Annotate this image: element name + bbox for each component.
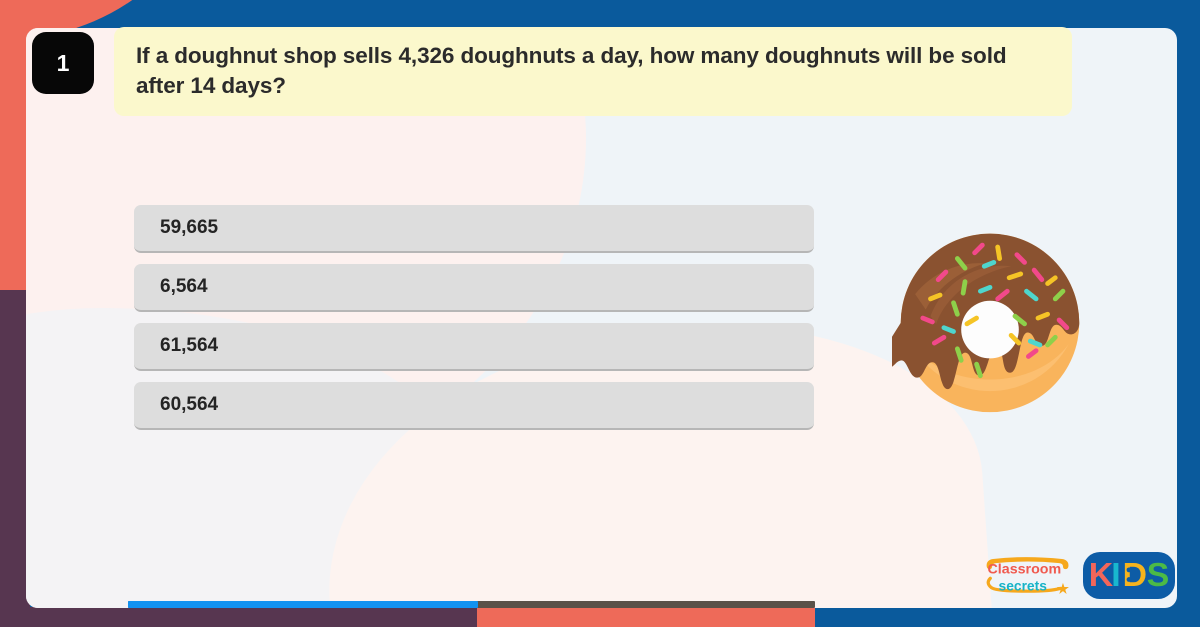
purple-bottom-stripe	[0, 607, 477, 627]
svg-text:S: S	[1147, 557, 1170, 594]
answer-option-2[interactable]: 6,564	[134, 264, 814, 312]
question-number-badge: 1	[32, 32, 94, 94]
question-text: If a doughnut shop sells 4,326 doughnuts…	[136, 41, 1050, 100]
progress-bar-fill	[128, 601, 478, 608]
answer-option-1[interactable]: 59,665	[134, 205, 814, 253]
svg-text:K: K	[1089, 557, 1114, 594]
coral-bottom-stripe	[477, 607, 815, 627]
answer-option-4[interactable]: 60,564	[134, 382, 814, 430]
slide-stage: 1 If a doughnut shop sells 4,326 doughnu…	[0, 0, 1200, 627]
svg-text:D: D	[1123, 557, 1147, 594]
branding-logos: Classroom secrets K I D S	[982, 552, 1175, 599]
blue-bottom-stripe	[815, 607, 1200, 627]
answer-option-label: 59,665	[160, 217, 218, 239]
answer-option-label: 60,564	[160, 394, 218, 416]
answer-option-3[interactable]: 61,564	[134, 323, 814, 371]
svg-text:Classroom: Classroom	[988, 561, 1062, 577]
doughnut-image	[892, 224, 1088, 416]
question-number-label: 1	[57, 50, 70, 77]
kids-wordmark-icon: K I D S	[1087, 557, 1171, 594]
answer-option-label: 61,564	[160, 335, 218, 357]
doughnut-icon	[892, 224, 1088, 416]
question-banner: If a doughnut shop sells 4,326 doughnuts…	[114, 27, 1072, 116]
classroom-secrets-logo: Classroom secrets	[982, 556, 1074, 596]
kids-badge: K I D S	[1083, 552, 1175, 599]
answer-option-label: 6,564	[160, 276, 208, 298]
progress-bar-track[interactable]	[128, 601, 815, 608]
svg-text:I: I	[1111, 557, 1120, 594]
svg-text:secrets: secrets	[999, 578, 1048, 593]
answer-options-list: 59,665 6,564 61,564 60,564	[134, 205, 814, 441]
